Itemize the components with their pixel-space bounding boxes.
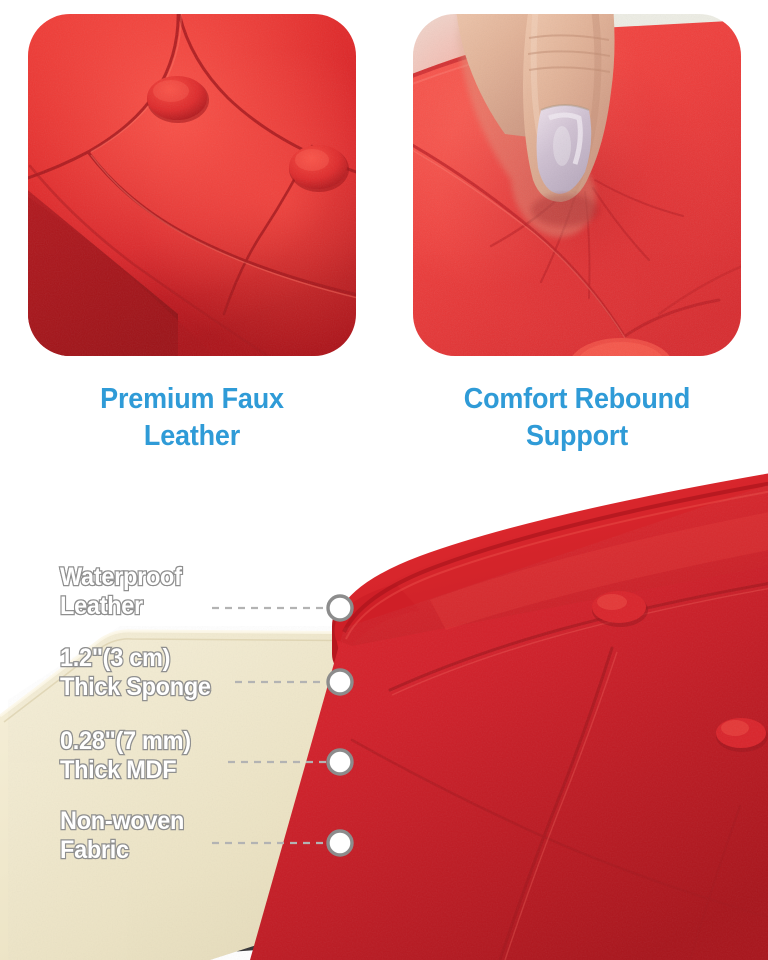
callout-label-waterproof-leather: Waterproof Leather xyxy=(60,563,182,622)
callout-marker-thick-sponge xyxy=(328,670,352,694)
layer-waterproof-leather xyxy=(250,468,768,960)
callout-label-non-woven-fabric: Non-woven Fabric xyxy=(60,807,184,866)
infographic-canvas: Premium Faux Leather Comfort Rebound Sup… xyxy=(0,0,768,960)
callout-label-thick-mdf: 0.28"(7 mm) Thick MDF xyxy=(60,727,191,786)
callout-marker-waterproof-leather xyxy=(328,596,352,620)
feature-photo-premium-faux-leather xyxy=(28,14,356,356)
callout-label-thick-sponge: 1.2"(3 cm) Thick Sponge xyxy=(60,644,211,703)
hand-pressing-leather-illustration xyxy=(413,14,741,356)
callout-marker-thick-mdf xyxy=(328,750,352,774)
callout-marker-non-woven-fabric xyxy=(328,831,352,855)
feature-photo-comfort-rebound-support xyxy=(413,14,741,356)
red-tufted-leather-illustration xyxy=(28,14,356,356)
